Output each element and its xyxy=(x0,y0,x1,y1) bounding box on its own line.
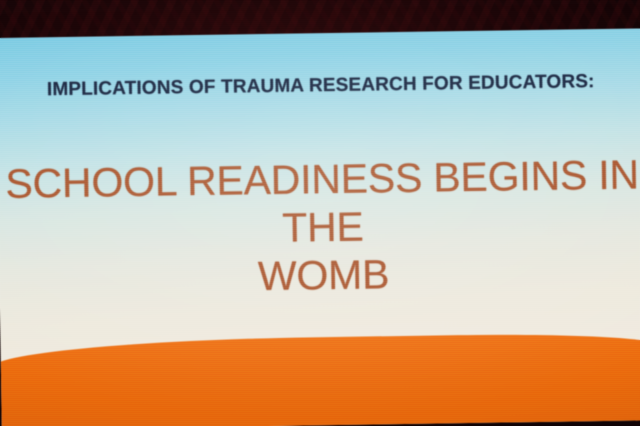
screenshot-frame: IMPLICATIONS OF TRAUMA RESEARCH FOR EDUC… xyxy=(0,0,640,426)
slide-footer-band xyxy=(0,332,640,426)
slide-title-line-2: WOMB xyxy=(3,246,640,303)
projected-slide: IMPLICATIONS OF TRAUMA RESEARCH FOR EDUC… xyxy=(0,28,640,426)
slide-title: SCHOOL READINESS BEGINS IN THE WOMB xyxy=(2,150,640,303)
slide-title-line-1: SCHOOL READINESS BEGINS IN THE xyxy=(2,150,640,255)
slide-subtitle: IMPLICATIONS OF TRAUMA RESEARCH FOR EDUC… xyxy=(0,70,640,102)
